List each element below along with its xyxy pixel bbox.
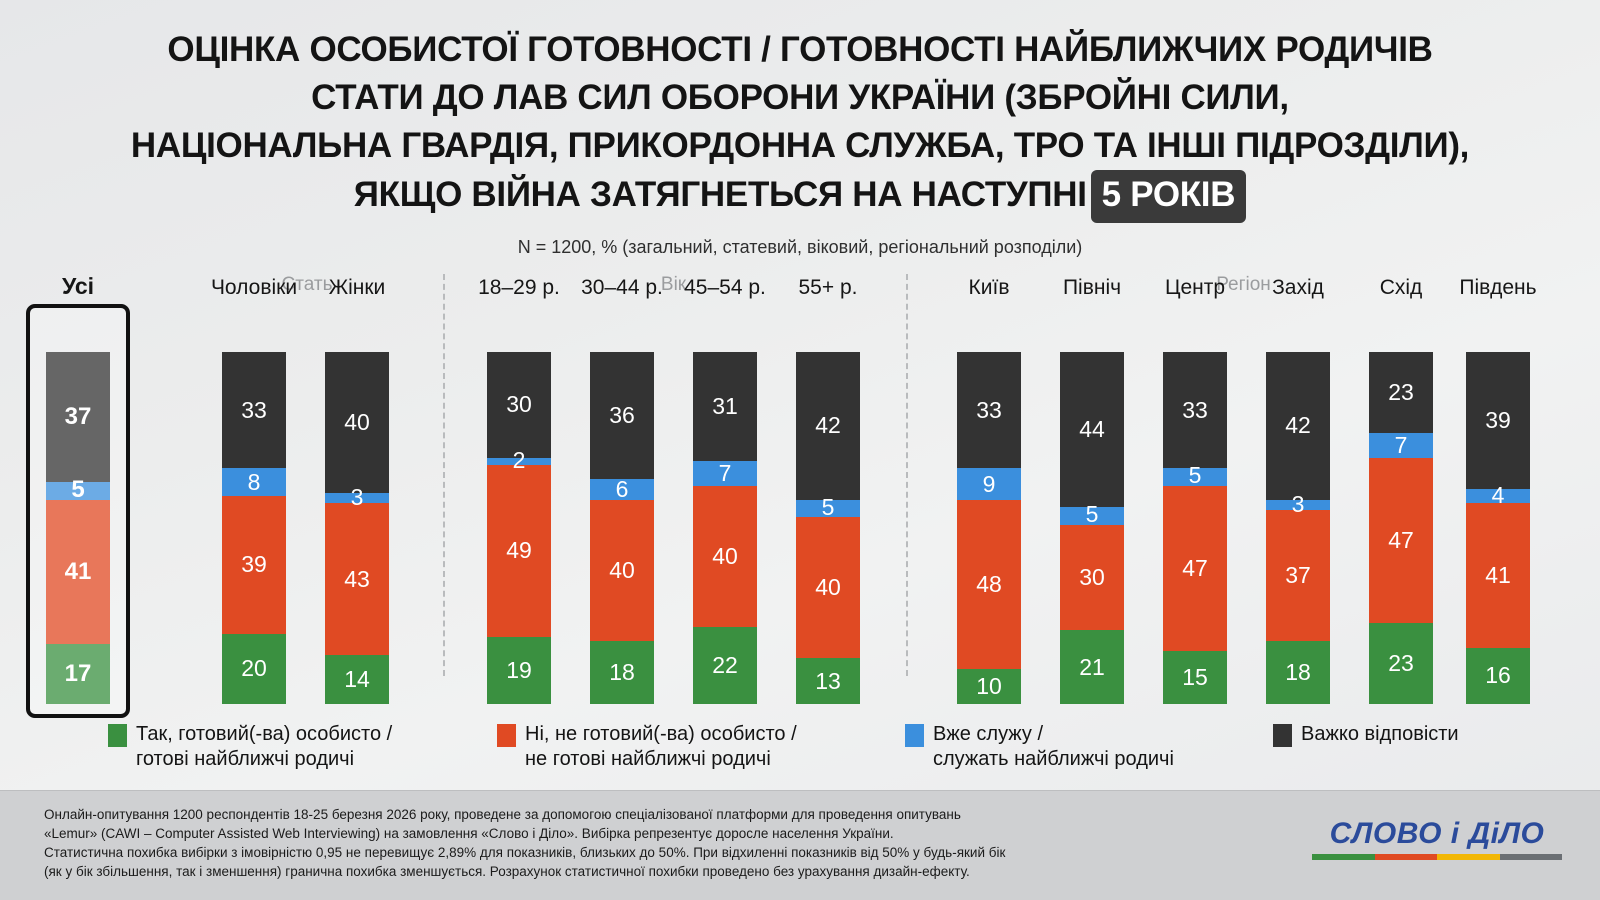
stacked-bar: 1443340 (325, 352, 389, 704)
bar-segment-hard-to-say[interactable]: 44 (1060, 352, 1124, 507)
title-line-4-text: ЯКЩО ВІЙНА ЗАТЯГНЕТЬСЯ НА НАСТУПНІ (354, 175, 1087, 214)
segment-value: 5 (1086, 503, 1099, 526)
segment-value: 3 (351, 486, 364, 509)
bar-segment-hard-to-say[interactable]: 33 (1163, 352, 1227, 468)
bar-segment-hard-to-say[interactable]: 36 (590, 352, 654, 479)
legend-item-hard-to-say: Важко відповісти (1273, 722, 1459, 747)
column-label: Центр (1165, 276, 1225, 300)
bar-segment-serving[interactable]: 4 (1466, 489, 1530, 503)
title-line-2: СТАТИ ДО ЛАВ СИЛ ОБОРОНИ УКРАЇНИ (ЗБРОЙН… (0, 74, 1600, 122)
stacked-bar: 2130544 (1060, 352, 1124, 704)
legend-label-hard-to-say: Важко відповісти (1301, 722, 1459, 747)
stacked-bar: 1641439 (1466, 352, 1530, 704)
stacked-bar: 1048933 (957, 352, 1021, 704)
bar-segment-hard-to-say[interactable]: 39 (1466, 352, 1530, 489)
bar-segment-hard-to-say[interactable]: 33 (222, 352, 286, 468)
segment-value: 40 (609, 559, 635, 582)
segment-value: 39 (1485, 409, 1511, 432)
segment-value: 7 (719, 462, 732, 485)
logo-color-bars (1312, 854, 1562, 860)
segment-value: 18 (1285, 661, 1311, 684)
bar-segment-no[interactable]: 49 (487, 465, 551, 637)
segment-value: 5 (1189, 464, 1202, 487)
bar-segment-serving[interactable]: 3 (1266, 500, 1330, 511)
segment-value: 33 (1182, 399, 1208, 422)
logo-bar-0 (1312, 854, 1375, 860)
segment-value: 40 (344, 411, 370, 434)
logo-bar-1 (1375, 854, 1438, 860)
stacked-bar: 2240731 (693, 352, 757, 704)
segment-value: 36 (609, 404, 635, 427)
bar-segment-serving[interactable]: 5 (796, 500, 860, 518)
bar-segment-hard-to-say[interactable]: 30 (487, 352, 551, 458)
segment-value: 4 (1492, 484, 1505, 507)
segment-value: 6 (616, 478, 629, 501)
title-block: ОЦІНКА ОСОБИСТОЇ ГОТОВНОСТІ / ГОТОВНОСТІ… (0, 0, 1600, 258)
column-label: 55+ р. (799, 276, 858, 300)
bar-segment-serving[interactable]: 7 (1369, 433, 1433, 458)
segment-value: 15 (1182, 666, 1208, 689)
segment-value: 30 (506, 393, 532, 416)
legend-swatch-yes (108, 724, 127, 747)
title-line-4: ЯКЩО ВІЙНА ЗАТЯГНЕТЬСЯ НА НАСТУПНІ5 РОКІ… (0, 170, 1600, 223)
bar-segment-no[interactable]: 39 (222, 496, 286, 633)
bar-segment-hard-to-say[interactable]: 23 (1369, 352, 1433, 433)
divider-gender-age (443, 274, 445, 676)
segment-value: 23 (1388, 652, 1414, 675)
bar-segment-serving[interactable]: 6 (590, 479, 654, 500)
legend-item-no: Ні, не готовий(-ва) особисто / не готові… (497, 722, 797, 772)
segment-value: 47 (1182, 557, 1208, 580)
bar-segment-serving[interactable]: 7 (693, 461, 757, 486)
column-label: Схід (1380, 276, 1423, 300)
total-column-highlight-frame (26, 304, 130, 718)
column-label: Південь (1459, 276, 1536, 300)
bar-segment-serving[interactable]: 2 (487, 458, 551, 465)
column-label: Жінки (329, 276, 386, 300)
legend-item-serving: Вже служу / служать найближчі родичі (905, 722, 1174, 772)
stacked-bar: 1837342 (1266, 352, 1330, 704)
bar-segment-yes[interactable]: 19 (487, 637, 551, 704)
bar-segment-serving[interactable]: 5 (1163, 468, 1227, 486)
segment-value: 43 (344, 568, 370, 591)
bar-segment-yes[interactable]: 22 (693, 627, 757, 704)
segment-value: 48 (976, 573, 1002, 596)
group-title-region: Регіон (957, 274, 1530, 296)
methodology-note: Онлайн-опитування 1200 респондентів 18-2… (44, 805, 1005, 881)
segment-value: 2 (513, 449, 526, 472)
segment-value: 49 (506, 539, 532, 562)
segment-value: 42 (1285, 414, 1311, 437)
segment-value: 31 (712, 395, 738, 418)
column-label: Північ (1063, 276, 1121, 300)
bar-segment-yes[interactable]: 15 (1163, 651, 1227, 704)
bar-segment-yes[interactable]: 10 (957, 669, 1021, 704)
segment-value: 30 (1079, 566, 1105, 589)
infographic-page: ОЦІНКА ОСОБИСТОЇ ГОТОВНОСТІ / ГОТОВНОСТІ… (0, 0, 1600, 900)
segment-value: 40 (815, 576, 841, 599)
segment-value: 9 (983, 473, 996, 496)
bar-segment-serving[interactable]: 8 (222, 468, 286, 496)
title-line-1: ОЦІНКА ОСОБИСТОЇ ГОТОВНОСТІ / ГОТОВНОСТІ… (0, 26, 1600, 74)
segment-value: 33 (976, 399, 1002, 422)
bar-segment-no[interactable]: 48 (957, 500, 1021, 669)
column-label: 45–54 р. (684, 276, 766, 300)
stacked-bar: 1340542 (796, 352, 860, 704)
bar-segment-serving[interactable]: 9 (957, 468, 1021, 500)
bar-segment-hard-to-say[interactable]: 31 (693, 352, 757, 461)
segment-value: 5 (822, 496, 835, 519)
segment-value: 37 (1285, 564, 1311, 587)
bar-segment-serving[interactable]: 5 (1060, 507, 1124, 525)
legend-swatch-no (497, 724, 516, 747)
segment-value: 3 (1292, 493, 1305, 516)
bar-segment-yes[interactable]: 18 (1266, 641, 1330, 704)
bar-segment-no[interactable]: 40 (693, 486, 757, 627)
segment-value: 41 (1485, 564, 1511, 587)
segment-value: 10 (976, 675, 1002, 698)
column-label: 30–44 р. (581, 276, 663, 300)
bar-segment-yes[interactable]: 21 (1060, 630, 1124, 704)
segment-value: 21 (1079, 656, 1105, 679)
bar-segment-no[interactable]: 37 (1266, 510, 1330, 640)
segment-value: 44 (1079, 418, 1105, 441)
segment-value: 14 (344, 668, 370, 691)
bar-segment-no[interactable]: 47 (1369, 458, 1433, 623)
column-label: Усі (62, 273, 94, 300)
logo-bar-2 (1437, 854, 1500, 860)
bar-segment-hard-to-say[interactable]: 33 (957, 352, 1021, 468)
chart-legend: Так, готовий(-ва) особисто / готові найб… (0, 722, 1600, 784)
stacked-bar: 1840636 (590, 352, 654, 704)
bar-segment-yes[interactable]: 20 (222, 634, 286, 704)
legend-label-serving: Вже служу / служать найближчі родичі (933, 722, 1174, 772)
stacked-bar: 2347723 (1369, 352, 1433, 704)
bar-segment-hard-to-say[interactable]: 40 (325, 352, 389, 493)
column-label: Чоловіки (211, 276, 297, 300)
segment-value: 40 (712, 545, 738, 568)
segment-value: 8 (248, 471, 261, 494)
bar-segment-yes[interactable]: 16 (1466, 648, 1530, 704)
bar-segment-no[interactable]: 47 (1163, 486, 1227, 651)
slovoidilo-logo: СЛОВО і ДіЛО (1312, 817, 1562, 860)
logo-wordmark: СЛОВО і ДіЛО (1312, 817, 1562, 851)
segment-value: 23 (1388, 381, 1414, 404)
title-line-3: НАЦІОНАЛЬНА ГВАРДІЯ, ПРИКОРДОННА СЛУЖБА,… (0, 122, 1600, 170)
logo-bar-3 (1500, 854, 1563, 860)
segment-value: 47 (1388, 529, 1414, 552)
stacked-bar: 1949230 (487, 352, 551, 704)
bar-segment-yes[interactable]: 23 (1369, 623, 1433, 704)
stacked-bar: 2039833 (222, 352, 286, 704)
segment-value: 19 (506, 659, 532, 682)
legend-swatch-serving (905, 724, 924, 747)
footer-bar: Онлайн-опитування 1200 респондентів 18-2… (0, 790, 1600, 900)
column-label: 18–29 р. (478, 276, 560, 300)
title-highlight-badge: 5 РОКІВ (1091, 170, 1247, 223)
bar-segment-yes[interactable]: 13 (796, 658, 860, 704)
segment-value: 33 (241, 399, 267, 422)
chart-subtitle: N = 1200, % (загальний, статевий, вікови… (0, 237, 1600, 258)
bar-segment-hard-to-say[interactable]: 42 (796, 352, 860, 500)
column-label: Захід (1272, 276, 1324, 300)
legend-label-yes: Так, готовий(-ва) особисто / готові найб… (136, 722, 392, 772)
legend-label-no: Ні, не готовий(-ва) особисто / не готові… (525, 722, 797, 772)
segment-value: 39 (241, 553, 267, 576)
segment-value: 42 (815, 414, 841, 437)
stacked-bar: 1547533 (1163, 352, 1227, 704)
segment-value: 22 (712, 654, 738, 677)
column-label: Київ (969, 276, 1010, 300)
bar-segment-serving[interactable]: 3 (325, 493, 389, 504)
bar-segment-no[interactable]: 41 (1466, 503, 1530, 647)
segment-value: 13 (815, 670, 841, 693)
bar-segment-no[interactable]: 40 (590, 500, 654, 641)
segment-value: 7 (1395, 434, 1408, 457)
divider-age-region (906, 274, 908, 676)
segment-value: 18 (609, 661, 635, 684)
bar-segment-no[interactable]: 30 (1060, 525, 1124, 631)
legend-item-yes: Так, готовий(-ва) особисто / готові найб… (108, 722, 392, 772)
segment-value: 16 (1485, 664, 1511, 687)
bar-segment-no[interactable]: 40 (796, 517, 860, 658)
legend-swatch-hard-to-say (1273, 724, 1292, 747)
segment-value: 20 (241, 657, 267, 680)
bar-segment-hard-to-say[interactable]: 42 (1266, 352, 1330, 500)
bar-segment-yes[interactable]: 14 (325, 655, 389, 704)
chart-area: Стать Вік Регіон Усі1741537Чоловіки20398… (0, 274, 1600, 704)
bar-segment-no[interactable]: 43 (325, 503, 389, 654)
bar-segment-yes[interactable]: 18 (590, 641, 654, 704)
